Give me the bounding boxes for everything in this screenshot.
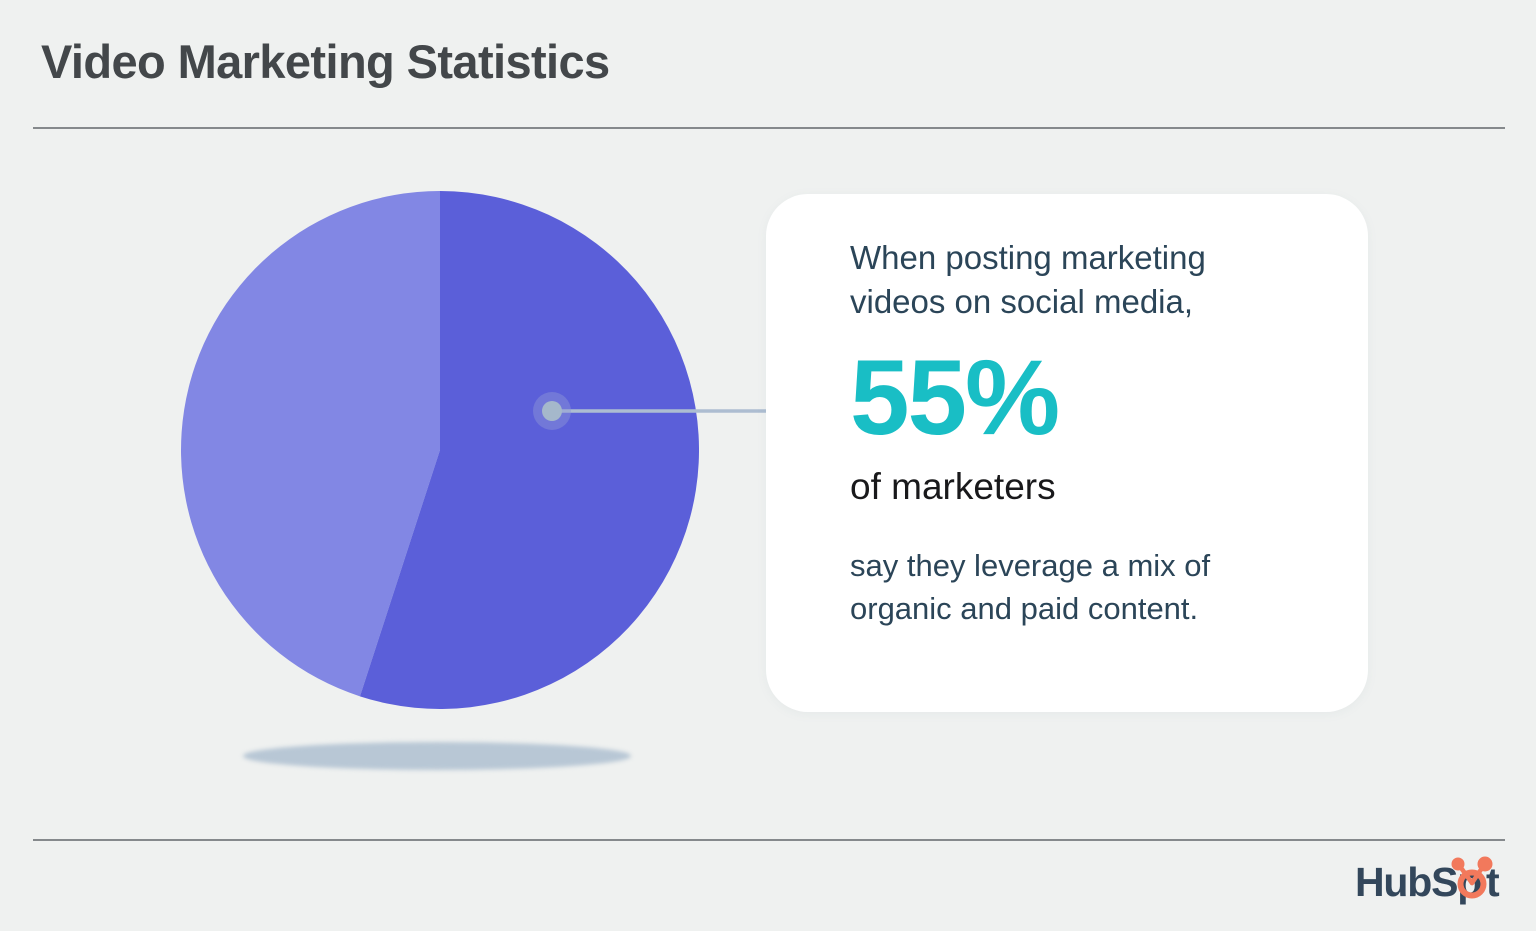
stat-detail: say they leverage a mix of organic and p…: [850, 545, 1310, 629]
pie-chart-shadow: [243, 742, 631, 770]
stat-subject: of marketers: [850, 467, 1310, 508]
stat-value: 55%: [850, 344, 1310, 451]
footer-divider: [33, 839, 1505, 841]
infographic-canvas: Video Marketing Statistics When posting …: [0, 0, 1536, 931]
stat-card-content: When posting marketing videos on social …: [850, 236, 1310, 630]
stat-lede: When posting marketing videos on social …: [850, 236, 1310, 324]
stat-card: When posting marketing videos on social …: [766, 194, 1368, 712]
hubspot-logo: HubSpot HubSp t: [1355, 855, 1505, 909]
page-title: Video Marketing Statistics: [41, 34, 610, 89]
header-divider: [33, 127, 1505, 129]
pie-chart: [181, 191, 699, 709]
